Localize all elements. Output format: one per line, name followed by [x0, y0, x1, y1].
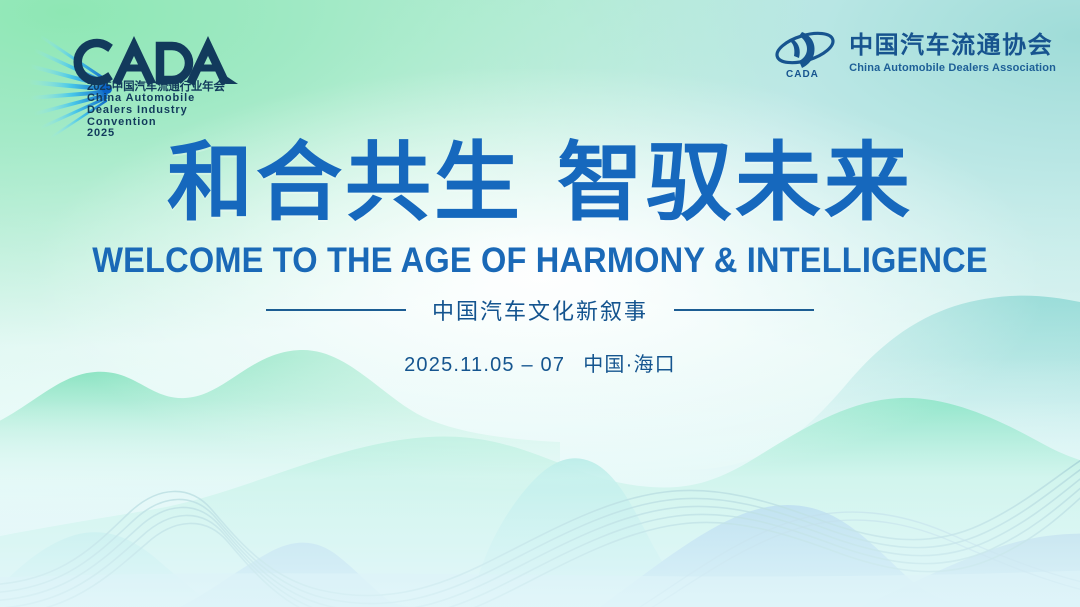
page-title: 和合共生智驭未来 [0, 140, 1080, 226]
main-content: 和合共生智驭未来 WELCOME TO THE AGE OF HARMONY &… [0, 140, 1080, 377]
tagline-row: 中国汽车文化新叙事 [0, 294, 1080, 326]
tagline-chinese: 中国汽车文化新叙事 [432, 294, 648, 326]
association-logo[interactable]: CADA 中国汽车流通协会 China Automobile Dealers A… [772, 28, 1056, 80]
event-logo[interactable]: 2025中国汽车流通行业年会 China Automobile Dealers … [34, 26, 244, 144]
event-logo-text: 2025中国汽车流通行业年会 China Automobile Dealers … [87, 81, 225, 140]
association-name-en: China Automobile Dealers Association [849, 63, 1056, 74]
cada-swoosh-emblem-icon: CADA [772, 28, 840, 80]
subtitle-english: WELCOME TO THE AGE OF HARMONY & INTELLIG… [38, 243, 1042, 278]
association-logo-text: 中国汽车流通协会 China Automobile Dealers Associ… [849, 34, 1056, 74]
svg-text:CADA: CADA [786, 69, 819, 80]
event-location: 中国·海口 [583, 354, 676, 376]
event-dateline: 2025.11.05 – 07中国·海口 [0, 348, 1080, 377]
event-date: 2025.11.05 – 07 [404, 354, 565, 376]
divider-rule-left [266, 309, 406, 311]
divider-rule-right [674, 309, 814, 311]
headline-part-1: 和合共生 [167, 135, 523, 231]
association-name-cn: 中国汽车流通协会 [849, 34, 1056, 58]
headline-part-2: 智驭未来 [557, 135, 913, 231]
event-logo-line-en-2: Dealers Industry [87, 105, 225, 117]
poster-canvas: 2025中国汽车流通行业年会 China Automobile Dealers … [0, 0, 1080, 607]
